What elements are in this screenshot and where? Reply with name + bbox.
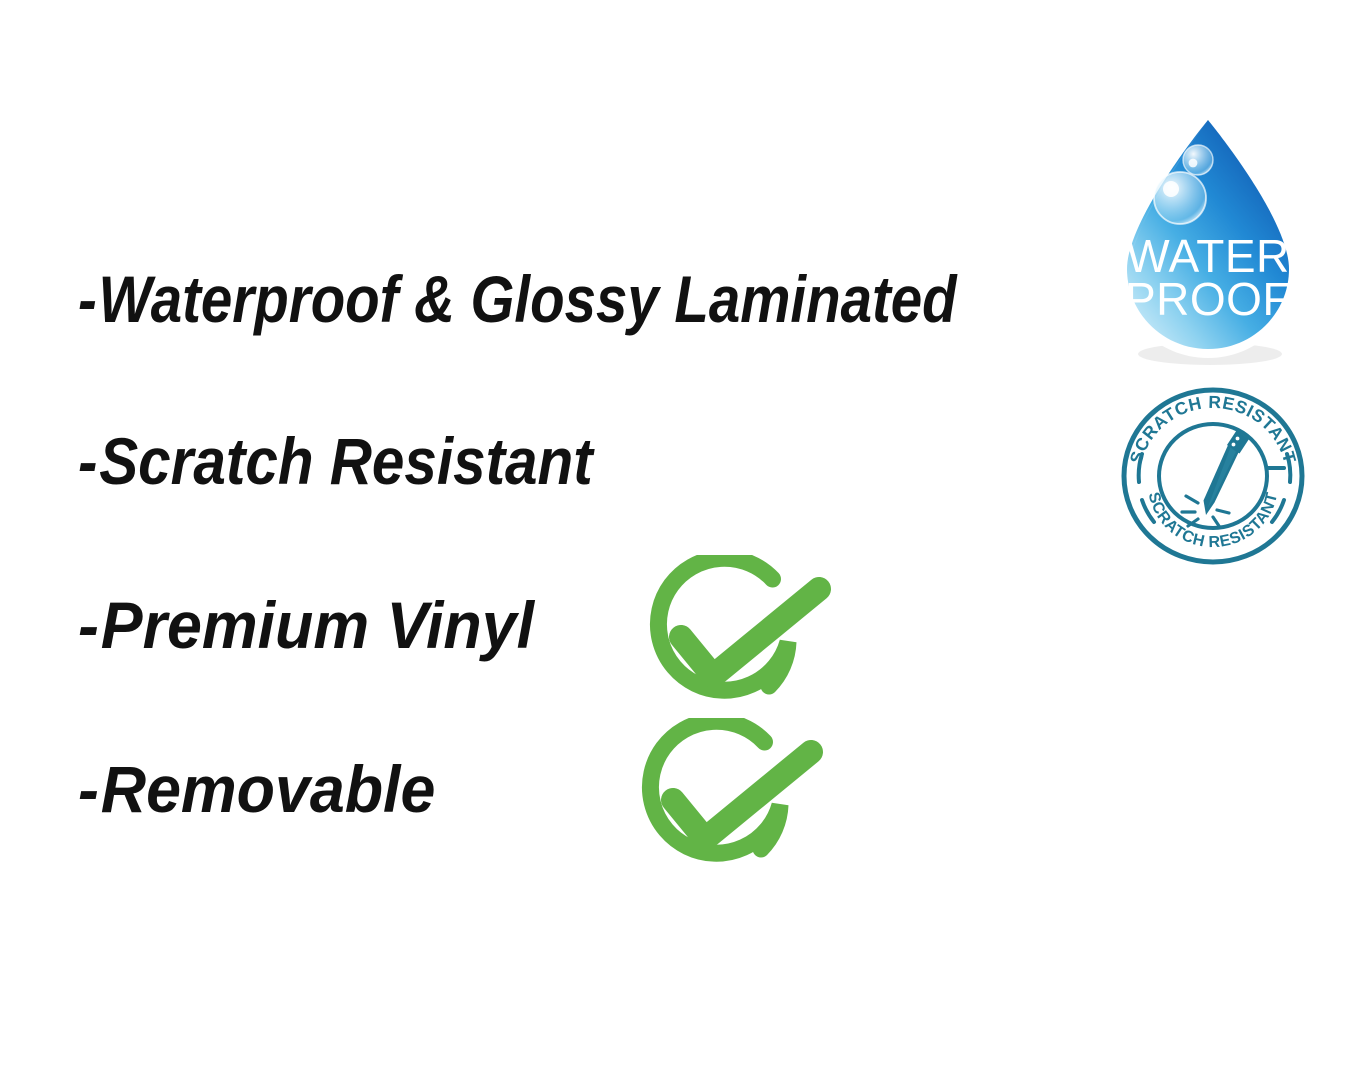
feature-label: Scratch Resistant xyxy=(99,424,592,498)
scratch-text-top: SCRATCH RESISTANT xyxy=(1126,392,1301,466)
checkmark-removable xyxy=(633,718,829,886)
feature-line-premium-vinyl: -Premium Vinyl xyxy=(78,592,534,658)
scratch-resistant-badge: SCRATCH RESISTANT SCRATCH RESISTANT xyxy=(1118,382,1308,568)
checkmark-premium-vinyl xyxy=(641,555,837,723)
circle-check-icon xyxy=(641,555,837,723)
feature-dash: - xyxy=(78,266,97,332)
circle-check-icon xyxy=(633,718,829,886)
feature-label: Waterproof & Glossy Laminated xyxy=(99,262,957,336)
knife-icon xyxy=(1204,431,1250,516)
knife-stamp-icon: SCRATCH RESISTANT SCRATCH RESISTANT xyxy=(1118,382,1308,568)
feature-label: Premium Vinyl xyxy=(101,588,534,662)
waterproof-badge: WATER PROOF xyxy=(1104,104,1312,370)
feature-dash: - xyxy=(78,592,99,658)
waterproof-text-line2: PROOF xyxy=(1125,273,1291,325)
bubble-small-icon xyxy=(1183,145,1213,175)
water-droplet-icon: WATER PROOF xyxy=(1104,104,1312,370)
feature-dash: - xyxy=(78,428,97,494)
feature-dash: - xyxy=(78,756,99,822)
stamp-inner-ring xyxy=(1159,424,1267,528)
feature-line-waterproof: -Waterproof & Glossy Laminated xyxy=(78,266,957,332)
feature-list-page: -Waterproof & Glossy Laminated -Scratch … xyxy=(0,0,1359,1080)
feature-line-removable: -Removable xyxy=(78,756,435,822)
bubble-large-icon xyxy=(1154,172,1206,224)
feature-line-scratch-resistant: -Scratch Resistant xyxy=(78,428,593,494)
feature-label: Removable xyxy=(101,752,436,826)
